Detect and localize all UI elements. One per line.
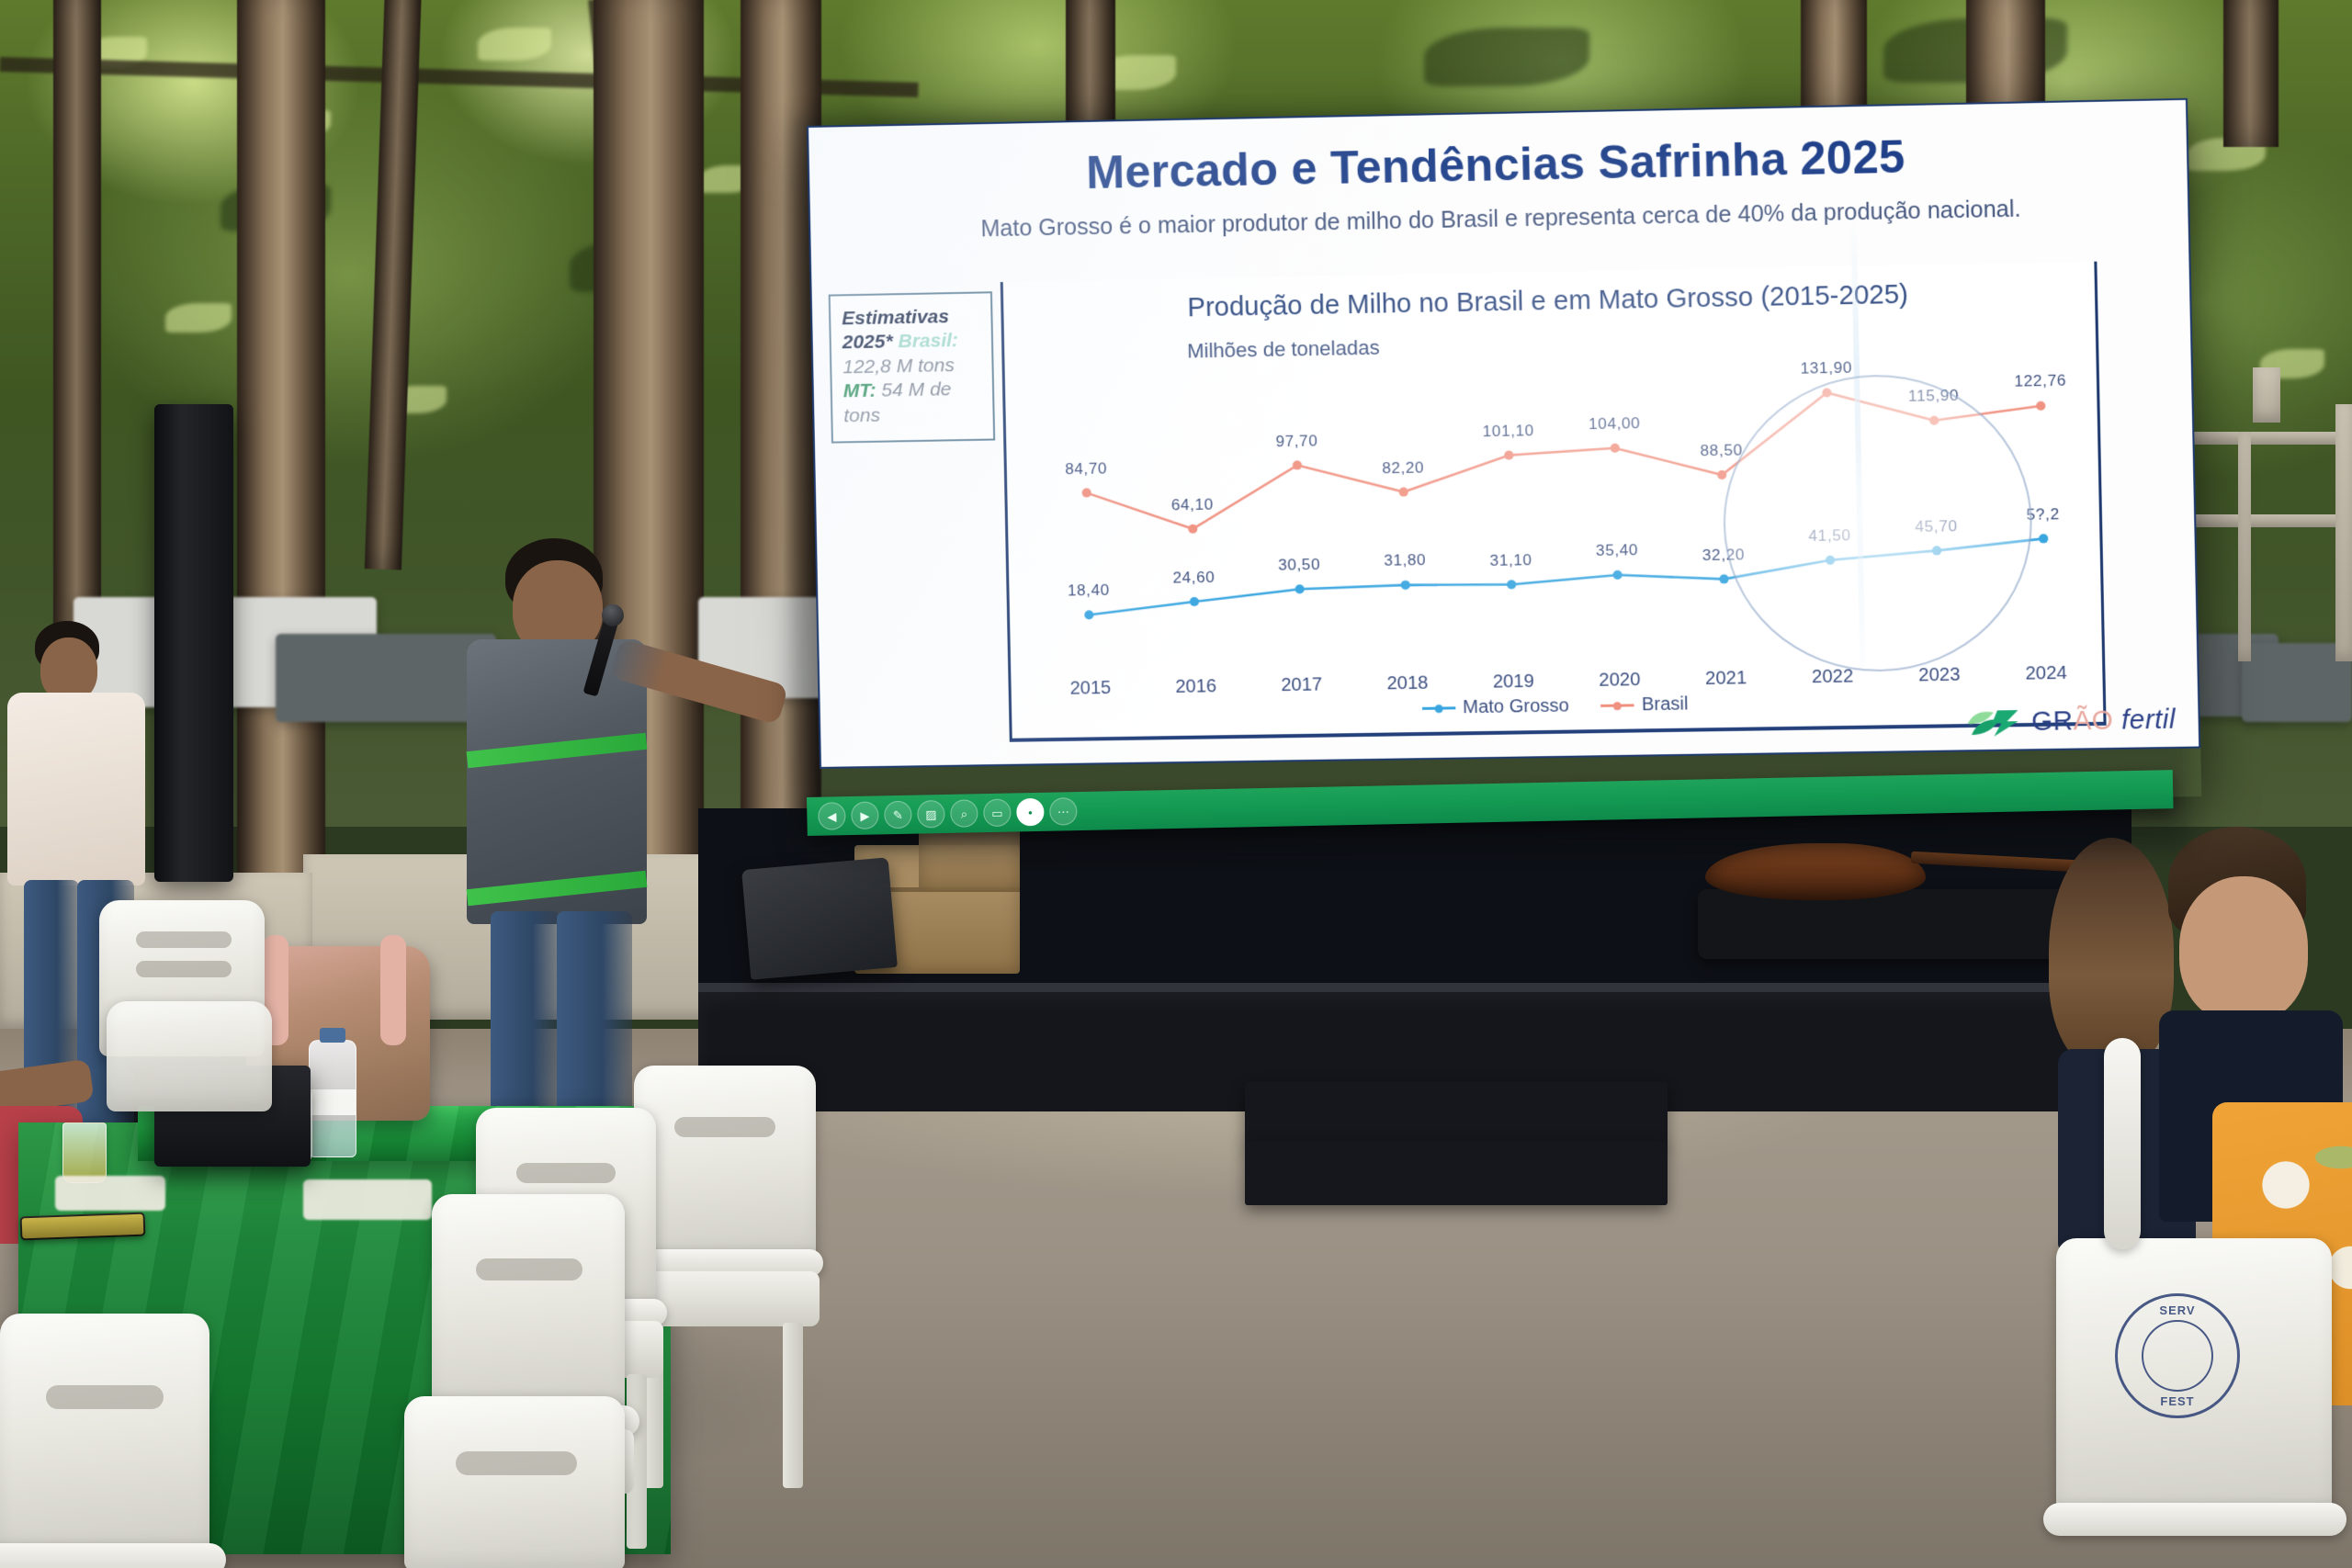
data-point <box>1190 597 1199 606</box>
stage-step <box>1245 1082 1668 1146</box>
brand-text-ao: ÃO <box>2073 705 2113 736</box>
water-bottle <box>309 1040 356 1157</box>
shirt-stripe <box>467 871 648 906</box>
x-axis-label: 2019 <box>1493 671 1534 694</box>
series-line-mato-grosso <box>1088 538 2045 615</box>
estimates-year: 2025* <box>842 332 893 354</box>
data-label: 35,40 <box>1596 541 1639 560</box>
data-point <box>1295 584 1305 593</box>
tree-trunk <box>53 0 101 680</box>
grao-fertil-leaf-icon <box>1965 706 2024 739</box>
presentation-slide[interactable]: Mercado e Tendências Safrinha 2025 Mato … <box>807 98 2200 769</box>
data-label: 24,60 <box>1172 569 1215 588</box>
estimates-brasil-value: 122,8 M tons <box>842 353 983 379</box>
person-shirt <box>7 693 145 886</box>
estimates-heading: Estimativas <box>842 304 982 331</box>
legend-swatch-brasil <box>1600 704 1634 707</box>
data-point <box>1612 570 1622 580</box>
chart-container: Produção de Milho no Brasil e em Mato Gr… <box>1001 262 2107 742</box>
railing-post <box>2238 432 2251 661</box>
data-point <box>1932 546 1941 555</box>
data-label: 97,70 <box>1275 432 1317 451</box>
data-point <box>1082 488 1091 497</box>
data-label: 115,90 <box>1908 387 1960 406</box>
series-line-brasil <box>1085 389 2043 530</box>
x-axis-label: 2017 <box>1281 674 1322 696</box>
railing <box>2187 432 2352 445</box>
data-label: 32,20 <box>1702 546 1746 565</box>
tree-trunk <box>2223 0 2278 147</box>
leaf-shadow <box>1424 28 1589 86</box>
data-point <box>2036 401 2045 411</box>
drinking-glass <box>62 1122 107 1183</box>
x-axis-label: 2024 <box>2025 663 2067 685</box>
slide-title: Mercado e Tendências Safrinha 2025 <box>809 124 2188 205</box>
x-axis-label: 2021 <box>1705 668 1747 690</box>
data-label: 88,50 <box>1700 441 1743 460</box>
subtitles-button[interactable]: ▭ <box>983 799 1012 828</box>
stage-step <box>1245 1141 1668 1205</box>
data-point <box>1929 416 1939 425</box>
guitar-case <box>1698 889 2084 959</box>
servfest-chair-stamp: SERV FEST <box>2115 1293 2240 1418</box>
data-point <box>1084 610 1093 619</box>
leaf-highlight <box>478 28 551 61</box>
data-label: 5?,2 <box>2026 505 2060 525</box>
brand-logo: GRÃO fertil <box>1965 704 2176 739</box>
presenter-leg <box>491 911 560 1122</box>
brand-wordmark: GRÃO fertil <box>2031 705 2177 738</box>
data-label: 122,76 <box>2014 372 2066 391</box>
stage-monitor-speaker <box>741 857 898 979</box>
zoom-tool-button[interactable]: ⌕ <box>950 799 978 828</box>
next-slide-button[interactable]: ▶ <box>851 801 879 829</box>
highlight-tool-button[interactable]: ▨ <box>917 800 945 829</box>
data-label: 104,00 <box>1589 414 1641 434</box>
legend-label-brasil: Brasil <box>1642 694 1689 716</box>
estimates-callout-box: Estimativas 2025* Brasil: 122,8 M tons M… <box>829 291 995 444</box>
stamp-top-text: SERV <box>2118 1303 2237 1317</box>
estimates-mt-label: MT: <box>843 380 876 402</box>
data-label: 41,50 <box>1808 526 1851 546</box>
data-label: 82,20 <box>1382 458 1424 478</box>
data-label: 45,70 <box>1915 517 1958 536</box>
data-point <box>1507 580 1516 589</box>
line-chart-plot: 18,4024,6030,5031,8031,1035,4032,2041,50… <box>1004 311 2108 682</box>
data-point <box>1826 556 1835 565</box>
data-label: 30,50 <box>1278 556 1320 575</box>
x-axis-label: 2016 <box>1175 676 1216 698</box>
slide-subtitle: Mato Grosso é o maior produtor de milho … <box>948 194 2054 245</box>
railing-post <box>2335 404 2352 661</box>
presenter-shirt <box>467 639 647 924</box>
legend-item-mato-grosso: Mato Grosso <box>1421 695 1569 719</box>
smartphone <box>20 1213 146 1241</box>
data-label: 18,40 <box>1068 581 1110 601</box>
data-point <box>1611 444 1620 453</box>
legend-label-mato-grosso: Mato Grosso <box>1463 695 1569 718</box>
data-point <box>2039 534 2048 543</box>
data-label: 101,10 <box>1483 422 1535 441</box>
data-point <box>1504 451 1513 460</box>
leaf-highlight <box>165 303 232 333</box>
data-label: 131,90 <box>1800 359 1852 378</box>
data-label: 64,10 <box>1171 495 1214 514</box>
person-hair <box>2049 838 2174 1067</box>
data-point <box>1399 487 1408 496</box>
napkin <box>303 1179 432 1220</box>
data-label: 31,80 <box>1384 551 1426 570</box>
parked-vehicle <box>276 634 496 722</box>
x-axis-label: 2018 <box>1386 673 1428 695</box>
chart-svg <box>1004 311 2108 682</box>
estimates-brasil-label: Brasil: <box>898 330 958 352</box>
previous-slide-button[interactable]: ◀ <box>818 802 846 830</box>
speaker-tower <box>154 404 233 882</box>
legend-swatch-mato-grosso <box>1422 706 1455 710</box>
x-axis-label: 2023 <box>1918 665 1961 687</box>
brand-text-fertil: fertil <box>2121 705 2177 735</box>
data-label: 31,10 <box>1489 551 1532 570</box>
presenter-leg <box>557 911 632 1130</box>
railing <box>2187 514 2352 527</box>
person-head <box>2179 876 2308 1023</box>
stamp-bottom-text: FEST <box>2118 1394 2237 1408</box>
pen-tool-button[interactable]: ✎ <box>884 801 912 829</box>
napkin <box>55 1176 165 1211</box>
laser-pointer-button[interactable]: • <box>1016 798 1045 827</box>
x-axis-label: 2015 <box>1069 678 1111 700</box>
x-axis-label: 2022 <box>1812 666 1854 688</box>
data-point <box>1719 574 1728 583</box>
shirt-stripe <box>467 733 648 768</box>
presentation-controls[interactable]: ◀▶✎▨⌕▭•⋯ <box>818 795 1078 832</box>
legend-item-brasil: Brasil <box>1600 694 1689 716</box>
data-label: 84,70 <box>1065 459 1107 479</box>
more-options-button[interactable]: ⋯ <box>1049 797 1078 826</box>
floodlight <box>2253 367 2280 423</box>
brand-text-gr: GR <box>2031 706 2074 737</box>
data-point <box>1401 581 1410 590</box>
projection-screen[interactable]: Mercado e Tendências Safrinha 2025 Mato … <box>807 98 2201 817</box>
x-axis-label: 2020 <box>1599 670 1641 692</box>
